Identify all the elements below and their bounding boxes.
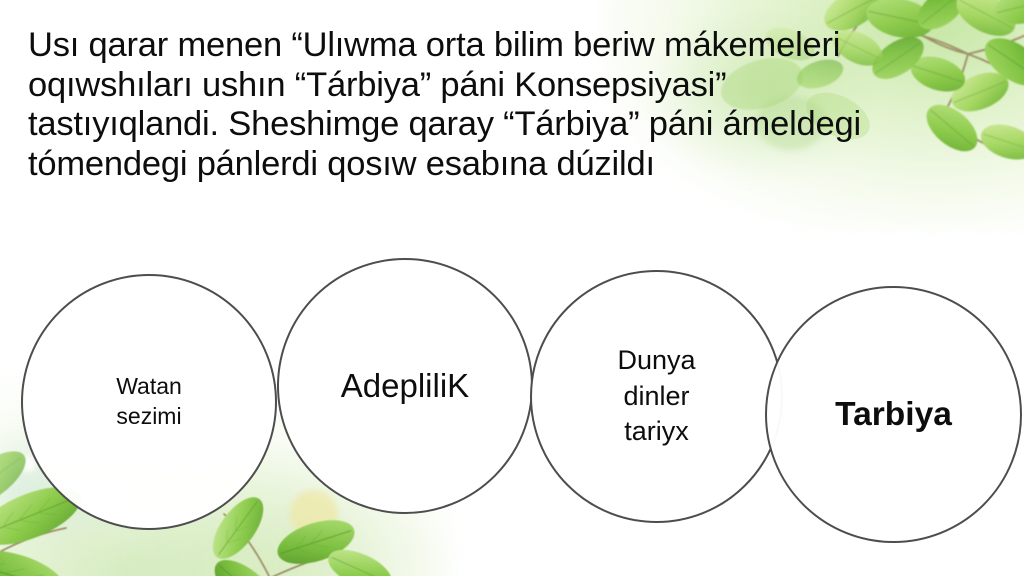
diagram-circle-adeplilik[interactable]: AdepliliK [277,258,533,514]
diagram-circle-tarbiya[interactable]: Tarbiya [765,286,1022,543]
circle-label: Tarbiya [825,393,962,437]
slide-body-text: Usı qarar menen “Ulıwma orta bilim beriw… [28,26,908,184]
slide-canvas: Usı qarar menen “Ulıwma orta bilim beriw… [0,0,1024,576]
circle-label: Watan sezimi [106,372,192,432]
circle-label: AdepliliK [331,365,479,408]
diagram-circle-dunya-dinler-tariyx[interactable]: Dunya dinler tariyx [530,270,783,523]
circle-label: Dunya dinler tariyx [607,343,705,450]
diagram-circle-watan-sezimi[interactable]: Watan sezimi [21,274,277,530]
